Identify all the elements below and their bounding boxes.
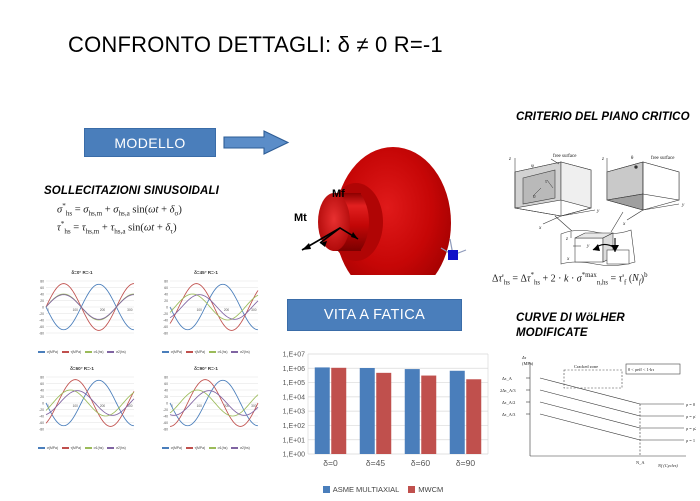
formula-tau-hs: τ*hs = τhs,m + τhs,a sin(ωt + δτ) [57,220,177,236]
legend-label: MWCM [418,485,443,494]
criterio-piano-critico-heading: CRITERIO DEL PIANO CRITICO [516,110,691,125]
axis-y-left-label: y [596,208,600,214]
legend-color-swatch [186,447,193,448]
bar-chart-ytick: 1,E+07 [283,352,305,359]
sinusoid-ytick: -20 [39,312,44,316]
angle-theta-label: θ [631,156,634,161]
wohler-condition-label: 0 < ρeff < 1-kτ [628,367,654,372]
sinusoid-ytick: -40 [39,318,44,322]
sinusoid-ytick: -20 [39,408,44,412]
bar-chart-ytick: 1,E+05 [283,380,305,387]
sinusoid-ytick: -80 [163,427,168,431]
sinusoid-legend-item: σ(MPa) [38,446,58,450]
sinusoid-chart-title: δ=45° R=-1 [146,270,266,275]
legend-label: τ(MPa) [195,446,206,450]
sinusoid-ytick: -40 [163,318,168,322]
sinusoid-ytick: 0 [42,305,44,309]
bar-chart-xtick: δ=45 [366,458,385,468]
legend-label: τ(MPa) [71,350,82,354]
modified-wohler-curves-figure: Δτ (MPa) Δτ_A 2Δτ_A/3 Δτ_A/2 Δτ_A/3 Crac… [500,352,696,474]
axis-z-right-label: z [601,156,604,162]
sinusoid-charts-grid: δ=0° R=-1806040200-20-40-60-800100200300… [22,270,270,460]
bar-chart-legend: ASME MULTIAXIALMWCM [272,485,494,494]
sinusoid-ytick: -40 [163,414,168,418]
wohler-ytick-3: Δτ_A/3 [502,412,516,417]
sinusoid-legend-item: σ2(hs) [231,446,249,450]
sinusoid-chart-1: δ=45° R=-1806040200-20-40-60-80010020030… [146,270,266,362]
axis-x-right-label: x [622,221,626,227]
sinusoid-xtick: 100 [73,404,79,408]
sinusoid-ytick: 40 [164,388,168,392]
sinusoid-xtick: 100 [197,404,203,408]
legend-label: σ2(hs) [240,350,250,354]
moment-bending-label: Mf [332,188,345,200]
axis-x-left-label: x [538,225,542,231]
vita-a-fatica-label: VITA A FATICA [324,307,425,323]
sinusoid-legend-item: σ2(hs) [231,350,249,354]
slide-canvas: CONFRONTO DETTAGLI: δ ≠ 0 R=-1 MODELLO S… [0,0,700,501]
wohler-curve-0-label: ρ = 0 [686,402,696,407]
sinusoid-ytick: 40 [164,292,168,296]
legend-label: σ2(hs) [240,446,250,450]
legend-color-swatch [107,351,114,352]
bar-chart-ytick: 1,E+04 [283,394,305,401]
legend-color-swatch [38,351,45,352]
sinusoid-xtick: 200 [100,308,106,312]
bar-chart-xtick: δ=0 [323,458,338,468]
free-surface-left-label: free surface [553,154,577,159]
sinusoid-legend-item: σ(MPa) [162,446,182,450]
sinusoid-ytick: 80 [40,279,44,283]
modello-label: MODELLO [114,135,185,151]
bar-chart-ytick: 1,E+02 [283,423,305,430]
legend-color-swatch [162,351,169,352]
legend-label: σ(MPa) [171,446,182,450]
legend-color-swatch [186,351,193,352]
sinusoid-legend-item: σ1(hs) [85,446,103,450]
wohler-ytick-0: Δτ_A [502,376,513,381]
legend-label: σ(MPa) [171,350,182,354]
wohler-curve-2-label: ρ = ρ2 [686,426,696,431]
bar-1-1 [376,373,391,454]
sinusoid-legend-item: τ(MPa) [186,350,205,354]
wohler-cracked-label: Cracked zone [574,364,598,369]
legend-color-swatch [162,447,169,448]
bar-1-2 [421,376,436,454]
sinusoid-ytick: 20 [164,299,168,303]
free-surface-right-label: free surface [651,156,675,161]
sinusoid-legend-item: τ(MPa) [62,350,81,354]
sinusoid-xtick: 200 [224,308,230,312]
bar-chart-legend-item: ASME MULTIAXIAL [323,485,400,494]
sinusoid-ytick: 20 [40,395,44,399]
sinusoid-chart-title: δ=90° R=-1 [146,366,266,371]
legend-color-swatch [209,351,216,352]
critical-plane-figure: z y x φ τ σ free surface z y [503,150,699,268]
sinusoid-ytick: -20 [163,408,168,412]
legend-color-swatch [62,447,69,448]
bar-chart-svg: 1,E+071,E+061,E+051,E+041,E+031,E+021,E+… [272,348,494,472]
sinusoid-ytick: -20 [163,312,168,316]
sigma-x-label: σ [533,195,536,200]
sinusoid-legend-item: σ2(hs) [107,446,125,450]
sinusoid-chart-title: δ=0° R=-1 [22,270,142,275]
bar-chart-ytick: 1,E+00 [283,452,305,459]
sinusoid-ytick: 80 [164,375,168,379]
sinusoid-ytick: -60 [163,421,168,425]
bar-1-0 [331,368,346,454]
legend-label: σ1(hs) [218,446,228,450]
sinusoid-legend: σ(MPa)τ(MPa)σ1(hs)σ2(hs) [146,350,266,354]
sinusoid-legend-item: τ(MPa) [186,446,205,450]
bar-chart-xtick: δ=90 [456,458,475,468]
sinusoid-legend-item: σ(MPa) [162,350,182,354]
legend-label: σ2(hs) [116,350,126,354]
legend-label: σ(MPa) [47,350,58,354]
sinusoid-legend: σ(MPa)τ(MPa)σ1(hs)σ2(hs) [22,446,142,450]
sinusoid-chart-3: δ=90° R=-1806040200-20-40-60-80010020030… [146,366,266,458]
sinusoid-ytick: -40 [39,414,44,418]
sinusoid-ytick: 60 [164,286,168,290]
sinusoid-ytick: -60 [163,325,168,329]
bar-chart-ytick: 1,E+06 [283,366,305,373]
bar-0-1 [360,368,375,454]
legend-label: σ2(hs) [116,446,126,450]
sinusoid-ytick: -80 [39,427,44,431]
wohler-xlabel: Nf (Cycles) [657,463,678,468]
legend-color-swatch [85,447,92,448]
wohler-xtick: N_A [636,460,645,465]
legend-color-swatch [107,447,114,448]
sinusoid-ytick: 40 [40,292,44,296]
sinusoid-xtick: 200 [100,404,106,408]
formula-critical-plane: Δτ'hs = Δτ*hs + 2 · k · σ*maxn,hs = τ'f … [492,272,647,286]
sinusoid-xtick: 300 [251,308,257,312]
bar-0-2 [405,369,420,454]
vita-a-fatica-callout-box[interactable]: VITA A FATICA [287,299,462,331]
legend-label: σ(MPa) [47,446,58,450]
fatigue-life-bar-chart: 1,E+071,E+061,E+051,E+041,E+031,E+021,E+… [272,348,494,494]
sollecitazioni-heading: SOLLECITAZIONI SINUSOIDALI [44,184,264,199]
sinusoid-ytick: 0 [166,305,168,309]
bar-1-3 [466,379,481,454]
sinusoid-xtick: 100 [73,308,79,312]
wohler-yunit: (MPa) [522,361,534,366]
legend-label: τ(MPa) [195,350,206,354]
sinusoid-xtick: 300 [127,308,133,312]
tau-xy-label: τ [545,180,547,185]
axis-z-left-label: z [508,156,511,162]
bar-chart-xtick: δ=60 [411,458,430,468]
legend-label: σ1(hs) [218,350,228,354]
modello-callout-box[interactable]: MODELLO [84,128,216,157]
axis-z-bottom-label: z [565,236,568,242]
wohler-ylabel: Δτ [521,355,527,360]
legend-color-swatch [231,351,238,352]
legend-color-swatch [408,486,415,493]
legend-label: ASME MULTIAXIAL [333,485,400,494]
sinusoid-ytick: 20 [164,395,168,399]
sinusoid-xtick: 100 [197,308,203,312]
sinusoid-chart-0: δ=0° R=-1806040200-20-40-60-800100200300… [22,270,142,362]
sinusoid-legend-item: τ(MPa) [62,446,81,450]
sinusoid-legend-item: σ1(hs) [85,350,103,354]
sinusoid-ytick: 40 [40,388,44,392]
bar-chart-legend-item: MWCM [408,485,443,494]
axis-y-right-label: y [681,202,685,208]
sinusoid-legend-item: σ1(hs) [209,350,227,354]
legend-color-swatch [62,351,69,352]
sinusoid-legend: σ(MPa)τ(MPa)σ1(hs)σ2(hs) [146,446,266,450]
legend-color-swatch [231,447,238,448]
wohler-ytick-2: Δτ_A/2 [502,400,515,405]
sinusoid-ytick: 0 [166,401,168,405]
sinusoid-ytick: 80 [164,279,168,283]
wohler-curve-3-label: ρ = 1 [686,438,695,443]
page-title: CONFRONTO DETTAGLI: δ ≠ 0 R=-1 [68,32,628,58]
sinusoid-ytick: 20 [40,299,44,303]
curve-wohler-heading: CURVE DI WöLHER MODIFICATE [516,311,691,341]
sinusoid-chart-2: δ=60° R=-1806040200-20-40-60-80010020030… [22,366,142,458]
angle-phi-label: φ [531,164,534,169]
bar-chart-ytick: 1,E+03 [283,409,305,416]
sinusoid-ytick: -60 [39,325,44,329]
sinusoid-ytick: 60 [164,382,168,386]
legend-label: τ(MPa) [71,446,82,450]
bar-0-3 [450,371,465,454]
sinusoid-ytick: -60 [39,421,44,425]
legend-color-swatch [209,447,216,448]
sinusoid-legend-item: σ2(hs) [107,350,125,354]
shaft-flange-3d-model [280,110,475,275]
sinusoid-legend-item: σ1(hs) [209,446,227,450]
sinusoid-ytick: 60 [40,382,44,386]
bar-chart-ytick: 1,E+01 [283,437,305,444]
sinusoid-legend: σ(MPa)τ(MPa)σ1(hs)σ2(hs) [22,350,142,354]
formula-sigma-hs: σ*hs = σhs,m + σhs,a sin(ωt + δσ) [57,202,182,218]
sinusoid-ytick: -80 [163,331,168,335]
sinusoid-ytick: 60 [40,286,44,290]
sinusoid-ytick: 0 [42,401,44,405]
sinusoid-ytick: 80 [40,375,44,379]
sinusoid-legend-item: σ(MPa) [38,350,58,354]
bar-0-0 [315,367,330,454]
legend-label: σ1(hs) [94,350,104,354]
legend-label: σ1(hs) [94,446,104,450]
sinusoid-xtick: 300 [127,404,133,408]
legend-color-swatch [38,447,45,448]
wohler-curve-1-label: ρ = ρ1 [686,414,696,419]
legend-color-swatch [323,486,330,493]
sinusoid-chart-title: δ=60° R=-1 [22,366,142,371]
moment-torsion-label: Mt [294,212,307,224]
legend-color-swatch [85,351,92,352]
wohler-ytick-1: 2Δτ_A/3 [500,388,516,393]
sinusoid-ytick: -80 [39,331,44,335]
